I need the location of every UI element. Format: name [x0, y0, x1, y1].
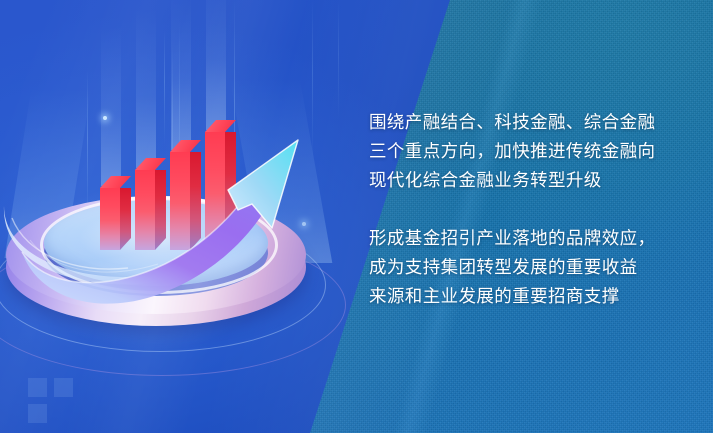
paragraph-2-line-2: 成为支持集团转型发展的重要收益: [369, 253, 689, 282]
paragraph-2-line-3: 来源和主业发展的重要招商支撑: [369, 282, 689, 311]
growth-arrow: [0, 58, 340, 348]
copy-block: 围绕产融结合、科技金融、综合金融 三个重点方向，加快推进传统金融向 现代化综合金…: [369, 108, 689, 311]
paragraph-2-line-1: 形成基金招引产业落地的品牌效应，: [369, 224, 689, 253]
paragraph-1-line-3: 现代化综合金融业务转型升级: [369, 166, 689, 195]
paragraph-1-line-1: 围绕产融结合、科技金融、综合金融: [369, 108, 689, 137]
decorative-squares-glyph: [28, 378, 74, 424]
banner-stage: 围绕产融结合、科技金融、综合金融 三个重点方向，加快推进传统金融向 现代化综合金…: [0, 0, 713, 433]
paragraph-1-line-2: 三个重点方向，加快推进传统金融向: [369, 137, 689, 166]
growth-chart-illustration: [0, 58, 340, 348]
